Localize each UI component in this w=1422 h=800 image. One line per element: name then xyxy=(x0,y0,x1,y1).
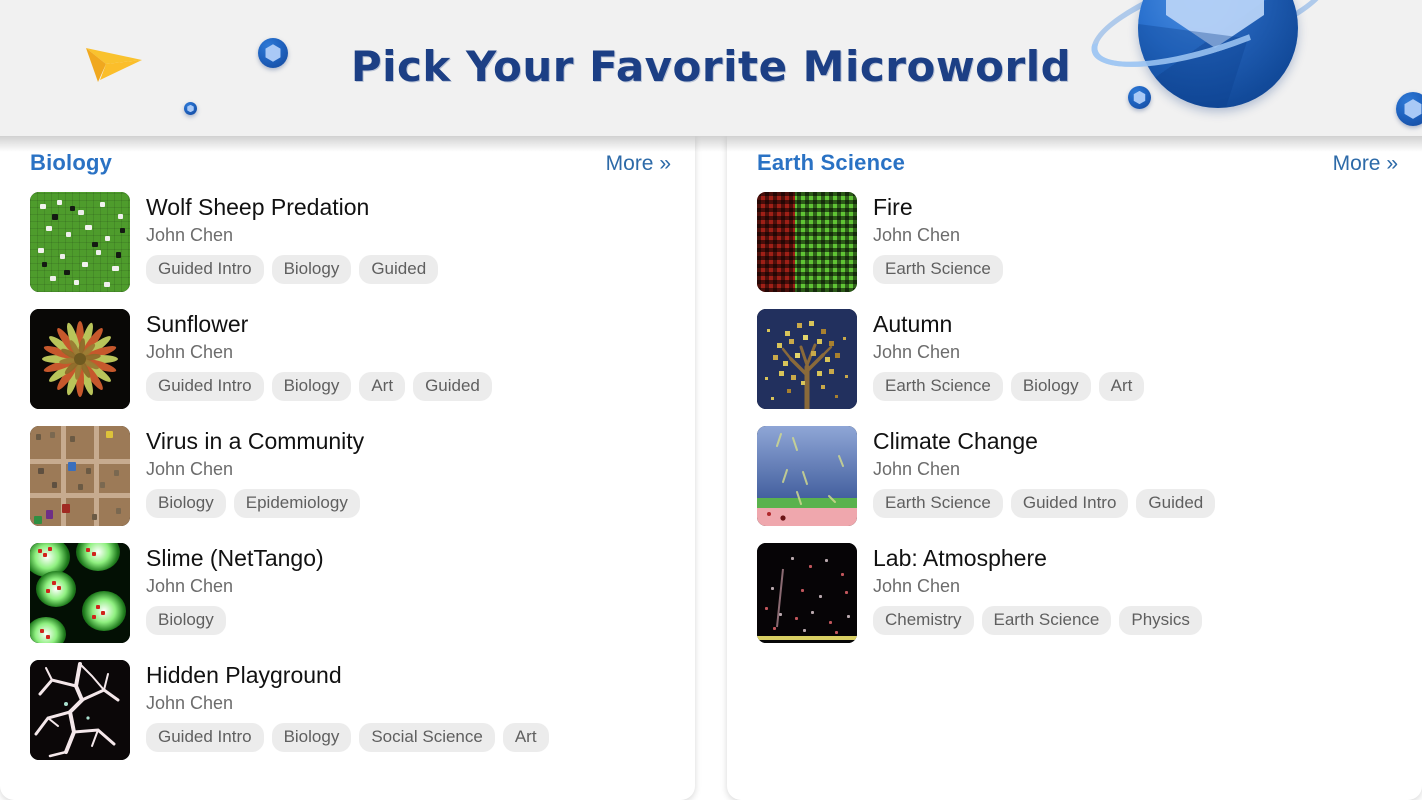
model-title: Lab: Atmosphere xyxy=(873,545,1202,572)
hidden-playground-thumbnail[interactable] xyxy=(30,660,130,760)
sunflower-thumbnail[interactable] xyxy=(30,309,130,409)
category-column-biology: Biology More » xyxy=(0,136,695,800)
tag-row: Chemistry Earth Science Physics xyxy=(873,606,1202,635)
lab-atmosphere-thumbnail[interactable] xyxy=(757,543,857,643)
model-title: Climate Change xyxy=(873,428,1215,455)
model-info: Autumn John Chen Earth Science Biology A… xyxy=(857,309,1144,401)
tag-row: Guided Intro Biology Art Guided xyxy=(146,372,492,401)
model-title: Hidden Playground xyxy=(146,662,549,689)
model-title: Wolf Sheep Predation xyxy=(146,194,438,221)
model-row[interactable]: Sunflower John Chen Guided Intro Biology… xyxy=(30,309,677,409)
model-info: Sunflower John Chen Guided Intro Biology… xyxy=(130,309,492,401)
model-row[interactable]: Fire John Chen Earth Science xyxy=(757,192,1404,292)
model-info: Virus in a Community John Chen Biology E… xyxy=(130,426,364,518)
slime-thumbnail[interactable] xyxy=(30,543,130,643)
model-title: Fire xyxy=(873,194,1003,221)
model-author: John Chen xyxy=(873,576,1202,598)
tag[interactable]: Art xyxy=(503,723,549,752)
tag[interactable]: Biology xyxy=(272,372,352,401)
model-info: Climate Change John Chen Earth Science G… xyxy=(857,426,1215,518)
model-info: Slime (NetTango) John Chen Biology xyxy=(130,543,324,635)
column-title-earth-science: Earth Science xyxy=(757,150,905,176)
gem-core xyxy=(1403,99,1422,119)
model-row[interactable]: Hidden Playground John Chen Guided Intro… xyxy=(30,660,677,760)
model-info: Hidden Playground John Chen Guided Intro… xyxy=(130,660,549,752)
column-header-biology: Biology More » xyxy=(30,150,677,186)
tag[interactable]: Guided Intro xyxy=(146,372,264,401)
page-title: Pick Your Favorite Microworld xyxy=(0,42,1422,91)
model-row[interactable]: Wolf Sheep Predation John Chen Guided In… xyxy=(30,192,677,292)
tag[interactable]: Earth Science xyxy=(873,489,1003,518)
model-author: John Chen xyxy=(146,693,549,715)
tag[interactable]: Physics xyxy=(1119,606,1202,635)
tag[interactable]: Earth Science xyxy=(873,255,1003,284)
tag[interactable]: Biology xyxy=(1011,372,1091,401)
tag[interactable]: Guided Intro xyxy=(146,255,264,284)
tag-row: Earth Science Biology Art xyxy=(873,372,1144,401)
virus-community-thumbnail[interactable] xyxy=(30,426,130,526)
tag[interactable]: Epidemiology xyxy=(234,489,360,518)
gem-icon-edge xyxy=(1396,92,1422,126)
wolf-sheep-thumbnail[interactable] xyxy=(30,192,130,292)
model-author: John Chen xyxy=(873,459,1215,481)
tag[interactable]: Chemistry xyxy=(873,606,974,635)
model-row[interactable]: Autumn John Chen Earth Science Biology A… xyxy=(757,309,1404,409)
tag[interactable]: Social Science xyxy=(359,723,495,752)
tag-row: Earth Science xyxy=(873,255,1003,284)
model-row[interactable]: Climate Change John Chen Earth Science G… xyxy=(757,426,1404,526)
page-header: Pick Your Favorite Microworld xyxy=(0,0,1422,136)
model-row[interactable]: Lab: Atmosphere John Chen Chemistry Eart… xyxy=(757,543,1404,643)
gem-core xyxy=(187,105,195,113)
model-list-earth-science: Fire John Chen Earth Science xyxy=(757,192,1404,643)
column-header-earth-science: Earth Science More » xyxy=(757,150,1404,186)
fire-thumbnail[interactable] xyxy=(757,192,857,292)
model-author: John Chen xyxy=(873,225,1003,247)
tag-row: Earth Science Guided Intro Guided xyxy=(873,489,1215,518)
model-title: Slime (NetTango) xyxy=(146,545,324,572)
category-columns: Biology More » xyxy=(0,136,1422,800)
microworld-picker-page: Pick Your Favorite Microworld Biology Mo… xyxy=(0,0,1422,800)
model-title: Virus in a Community xyxy=(146,428,364,455)
tag[interactable]: Earth Science xyxy=(873,372,1003,401)
model-row[interactable]: Slime (NetTango) John Chen Biology xyxy=(30,543,677,643)
model-author: John Chen xyxy=(146,459,364,481)
model-author: John Chen xyxy=(146,225,438,247)
category-column-earth-science: Earth Science More » Fire John Chen xyxy=(727,136,1422,800)
model-row[interactable]: Virus in a Community John Chen Biology E… xyxy=(30,426,677,526)
autumn-thumbnail[interactable] xyxy=(757,309,857,409)
tag-row: Guided Intro Biology Social Science Art xyxy=(146,723,549,752)
content-area: Biology More » xyxy=(0,136,1422,800)
model-info: Wolf Sheep Predation John Chen Guided In… xyxy=(130,192,438,284)
model-title: Autumn xyxy=(873,311,1144,338)
climate-change-thumbnail[interactable] xyxy=(757,426,857,526)
tag[interactable]: Biology xyxy=(272,723,352,752)
tag[interactable]: Guided xyxy=(413,372,492,401)
model-author: John Chen xyxy=(873,342,1144,364)
tag-row: Biology Epidemiology xyxy=(146,489,364,518)
tag[interactable]: Guided Intro xyxy=(146,723,264,752)
tag[interactable]: Biology xyxy=(146,606,226,635)
tag[interactable]: Guided Intro xyxy=(1011,489,1129,518)
model-author: John Chen xyxy=(146,576,324,598)
more-link-biology[interactable]: More » xyxy=(606,152,671,176)
model-author: John Chen xyxy=(146,342,492,364)
model-list-biology: Wolf Sheep Predation John Chen Guided In… xyxy=(30,192,677,760)
more-link-earth-science[interactable]: More » xyxy=(1333,152,1398,176)
tag[interactable]: Biology xyxy=(146,489,226,518)
model-info: Fire John Chen Earth Science xyxy=(857,192,1003,284)
gem-icon-tiny xyxy=(184,102,197,115)
tag[interactable]: Biology xyxy=(272,255,352,284)
model-info: Lab: Atmosphere John Chen Chemistry Eart… xyxy=(857,543,1202,635)
tag[interactable]: Earth Science xyxy=(982,606,1112,635)
column-title-biology: Biology xyxy=(30,150,112,176)
tag[interactable]: Art xyxy=(359,372,405,401)
tag[interactable]: Guided xyxy=(359,255,438,284)
tag[interactable]: Guided xyxy=(1136,489,1215,518)
tag[interactable]: Art xyxy=(1099,372,1145,401)
tag-row: Biology xyxy=(146,606,324,635)
tag-row: Guided Intro Biology Guided xyxy=(146,255,438,284)
model-title: Sunflower xyxy=(146,311,492,338)
